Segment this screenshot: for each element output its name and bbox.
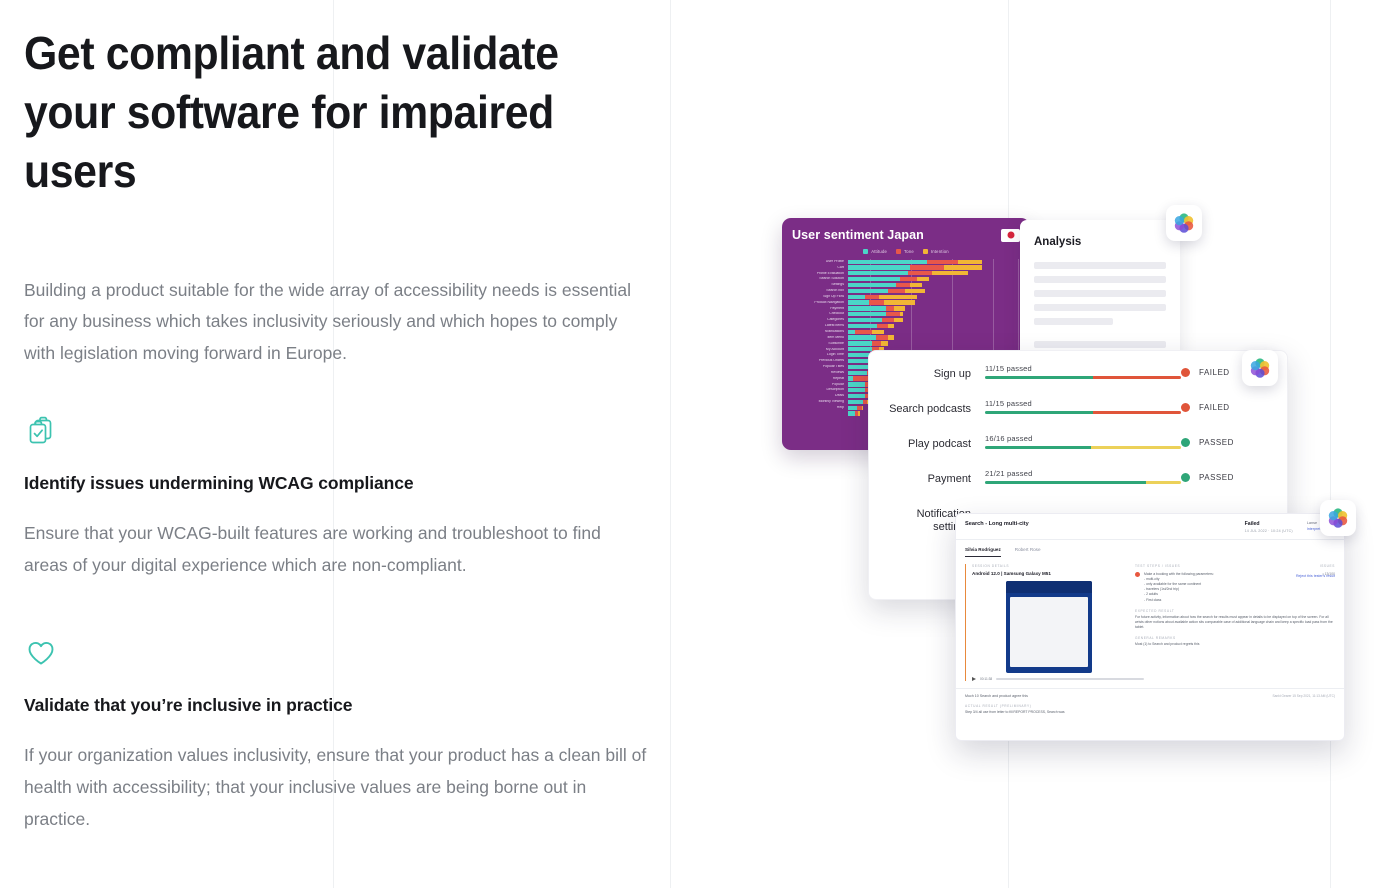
- content-column: Get compliant and validate your software…: [24, 24, 664, 835]
- test-progress: 16/16 passed: [985, 433, 1181, 449]
- feature-block-inclusive: Validate that you’re inclusive in practi…: [24, 636, 664, 836]
- chart-bar-segment: [848, 353, 870, 357]
- chart-bar-segment: [881, 341, 888, 345]
- status-dot: [1181, 438, 1190, 447]
- chart-bar-label: Sign Up Flow: [792, 295, 848, 299]
- chart-bar-row: Search Solution: [792, 277, 1020, 282]
- chart-bar-segment: [908, 271, 932, 275]
- chart-bar-segment: [848, 347, 872, 351]
- general-body: Most (1) to Search and product regrets t…: [1135, 642, 1335, 647]
- chart-bar-segment: [894, 318, 903, 322]
- issue-line: - First class: [1144, 598, 1214, 603]
- legend-label: Tone: [904, 249, 914, 254]
- chart-bar-segment: [869, 300, 884, 304]
- chart-bar-stack: [848, 283, 1020, 287]
- chart-bar-segment: [848, 300, 869, 304]
- status-label: PASSED: [1199, 438, 1234, 447]
- test-passed-count: 21/21 passed: [985, 469, 1181, 478]
- brand-logo-badge: [1320, 500, 1356, 536]
- chart-bar-segment: [872, 330, 884, 334]
- chart-bar-segment: [888, 289, 905, 293]
- test-name: Search podcasts: [877, 398, 985, 416]
- chart-legend: AttitudeToneIntention: [792, 249, 1020, 254]
- test-row[interactable]: Sign up11/15 passedFAILED: [869, 363, 1287, 398]
- chart-bar-label: Help: [792, 406, 848, 410]
- intro-paragraph: Building a product suitable for the wide…: [24, 275, 642, 371]
- page-title: Get compliant and validate your software…: [24, 24, 619, 201]
- test-row[interactable]: Search podcasts11/15 passedFAILED: [869, 398, 1287, 433]
- chart-bar-segment: [855, 330, 872, 334]
- video-time: 00:11:38: [980, 677, 992, 681]
- chart-bar-row: Checkout: [792, 312, 1020, 317]
- progress-pass-segment: [985, 376, 1093, 379]
- layout-guide-2: [670, 0, 671, 888]
- progress-pass-segment: [985, 481, 1146, 484]
- test-status: PASSED: [1181, 433, 1273, 447]
- session-issue-column: TEST STEPS / ISSUES ISSUES Make a bookin…: [1135, 564, 1335, 681]
- chart-bar-stack: [848, 289, 1020, 293]
- progress-remainder-segment: [1091, 446, 1181, 449]
- analysis-panel: Analysis: [1020, 220, 1180, 370]
- chart-bar-segment: [848, 394, 865, 398]
- chart-bar-label: My Account: [792, 348, 848, 352]
- chart-bar-row: Latest Items: [792, 323, 1020, 328]
- chart-bar-row: User Profile: [792, 259, 1020, 264]
- status-label: FAILED: [1199, 403, 1230, 412]
- chart-bar-segment: [848, 388, 865, 392]
- chart-bar-row: Categories: [792, 317, 1020, 322]
- feature-body: If your organization values inclusivity,…: [24, 740, 649, 836]
- chart-bar-stack: [848, 295, 1020, 299]
- chart-bar-segment: [932, 271, 968, 275]
- session-tabs: Silvia Rodriguez Robert Rose: [956, 540, 1344, 557]
- feature-body: Ensure that your WCAG-built features are…: [24, 518, 649, 582]
- heart-icon: [24, 636, 58, 670]
- issue-head-left: TEST STEPS / ISSUES: [1135, 564, 1180, 568]
- chart-bar-row: Product Navigation: [792, 300, 1020, 305]
- chart-bar-segment: [848, 335, 876, 339]
- chart-bar-segment: [848, 271, 908, 275]
- chart-bar-segment: [848, 306, 886, 310]
- chart-bar-segment: [888, 324, 895, 328]
- chart-bar-segment: [882, 318, 894, 322]
- session-timestamp: 14 JUL 2022 · 10:24 (UTC): [1245, 529, 1293, 533]
- test-progress-bar: [985, 376, 1181, 379]
- chart-bar-label: Description: [792, 388, 848, 392]
- test-passed-count: 16/16 passed: [985, 434, 1181, 443]
- test-name: Sign up: [877, 363, 985, 381]
- flower-logo-icon: [1172, 211, 1196, 235]
- general-head: GENERAL REMARKS: [1135, 636, 1335, 640]
- chart-bar-segment: [848, 359, 869, 363]
- test-rows-container: Sign up11/15 passedFAILEDSearch podcasts…: [869, 363, 1287, 538]
- progress-pass-segment: [985, 411, 1093, 414]
- chart-bar-row: Settings: [792, 282, 1020, 287]
- status-dot: [1181, 473, 1190, 482]
- chart-bar-segment: [848, 382, 865, 386]
- video-scrubber[interactable]: [996, 678, 1144, 679]
- legend-swatch: [923, 249, 928, 254]
- chart-bar-segment: [848, 365, 869, 369]
- status-label: PASSED: [1199, 473, 1234, 482]
- test-passed-count: 11/15 passed: [985, 399, 1181, 408]
- session-header: Search - Long multi-city Failed 14 JUL 2…: [956, 514, 1344, 540]
- issue-section-header: TEST STEPS / ISSUES ISSUES: [1135, 564, 1335, 568]
- chart-bar-row: Subscribe: [792, 341, 1020, 346]
- test-name: Payment: [877, 468, 985, 486]
- analysis-title: Analysis: [1034, 236, 1166, 248]
- chart-bar-segment: [944, 265, 982, 269]
- japan-flag-icon: [1001, 229, 1020, 242]
- error-icon: [1135, 572, 1140, 577]
- chart-bar-segment: [917, 277, 929, 281]
- device-name: Android 12.0 | Samsung Galaxy M51: [972, 571, 1125, 576]
- chart-bar-segment: [884, 300, 915, 304]
- issue-lines: Make a booking with the following parame…: [1144, 572, 1214, 603]
- test-progress-bar: [985, 411, 1181, 414]
- test-progress-bar: [985, 446, 1181, 449]
- chart-bar-segment: [900, 277, 917, 281]
- footer-right-text: Sankt Gearer 15 Sep 2021, 11:13 AM (UTC): [1273, 694, 1335, 698]
- test-status: [1181, 503, 1273, 508]
- session-footer: Much 10 Search and product agree this Sa…: [956, 688, 1344, 720]
- chart-bar-label: Deals: [792, 394, 848, 398]
- chart-bar-segment: [927, 260, 958, 264]
- chart-bar-segment: [865, 295, 879, 299]
- session-title: Search - Long multi-city: [965, 521, 1029, 527]
- video-controls[interactable]: 00:11:38: [972, 677, 1144, 681]
- legend-label: Intention: [931, 249, 949, 254]
- chart-bar-segment: [958, 260, 982, 264]
- test-passed-count: 11/15 passed: [985, 364, 1181, 373]
- chart-bar-segment: [848, 371, 867, 375]
- chart-bar-stack: [848, 277, 1020, 281]
- chart-bar-segment: [905, 289, 926, 293]
- chart-bar-segment: [848, 312, 886, 316]
- chart-bar-segment: [900, 312, 903, 316]
- chart-bar-segment: [910, 265, 944, 269]
- test-status: PASSED: [1181, 468, 1273, 482]
- expected-head: EXPECTED RESULT: [1135, 609, 1335, 613]
- chart-bar-segment: [853, 376, 868, 380]
- flower-logo-icon: [1248, 356, 1272, 380]
- actual-body: Step 3/4 all use from letter to fill REP…: [965, 710, 1335, 715]
- chart-bar-label: Search Solution: [792, 277, 848, 281]
- clipboard-check-icon: [24, 414, 58, 448]
- status-dot: [1181, 403, 1190, 412]
- progress-remainder-segment: [1093, 411, 1181, 414]
- reject-result-link[interactable]: Reject this tester's result: [1296, 574, 1335, 578]
- chart-bar-segment: [848, 283, 896, 287]
- status-dot: [1181, 368, 1190, 377]
- progress-pass-segment: [985, 446, 1091, 449]
- chart-bar-segment: [848, 277, 900, 281]
- chart-bar-segment: [848, 411, 855, 415]
- chart-bar-stack: [848, 265, 1020, 269]
- legend-item: Tone: [896, 249, 914, 254]
- device-kicker: SESSION DETAILS: [972, 564, 1125, 568]
- chart-bar-label: Monthly Viewing: [792, 400, 848, 404]
- chart-bar-segment: [848, 260, 927, 264]
- chart-bar-label: Cart: [792, 266, 848, 270]
- chart-bar-segment: [848, 330, 855, 334]
- test-progress: 11/15 passed: [985, 363, 1181, 379]
- session-status-block: Failed 14 JUL 2022 · 10:24 (UTC): [1245, 521, 1293, 533]
- chart-bar-row: Payment: [792, 306, 1020, 311]
- chart-bar-label: User Profile: [792, 260, 848, 264]
- legend-item: Intention: [923, 249, 949, 254]
- chart-bar-label: Subscribe: [792, 342, 848, 346]
- footer-left-text: Much 10 Search and product agree this: [965, 694, 1028, 698]
- chart-bar-segment: [872, 341, 881, 345]
- chart-bar-segment: [879, 295, 917, 299]
- chart-bar-stack: [848, 341, 1020, 345]
- chart-bar-segment: [896, 283, 910, 287]
- chart-bar-label: Settings: [792, 283, 848, 287]
- page-root: Get compliant and validate your software…: [0, 0, 1389, 888]
- chart-bar-segment: [848, 341, 872, 345]
- progress-remainder-segment: [1093, 376, 1181, 379]
- test-row[interactable]: Payment21/21 passedPASSED: [869, 468, 1287, 503]
- chart-bar-segment: [888, 335, 895, 339]
- flower-logo-icon: [1326, 506, 1350, 530]
- legend-swatch: [896, 249, 901, 254]
- chart-bar-row: Profile Evaluation: [792, 271, 1020, 276]
- chart-bar-row: Search box: [792, 288, 1020, 293]
- product-screenshot-collage: User sentiment Japan AttitudeToneIntenti…: [770, 190, 1389, 770]
- chart-bar-stack: [848, 271, 1020, 275]
- actual-head: ACTUAL RESULT (PRELIMINARY): [965, 704, 1335, 708]
- chart-bar-segment: [848, 406, 857, 410]
- chart-bar-segment: [848, 265, 910, 269]
- chart-bar-segment: [876, 335, 888, 339]
- chart-bar-segment: [848, 324, 877, 328]
- sentiment-card-header: User sentiment Japan: [792, 228, 1020, 242]
- chart-bar-row: Cart: [792, 265, 1020, 270]
- legend-label: Attitude: [871, 249, 887, 254]
- chart-bar-label: Search box: [792, 289, 848, 293]
- test-progress-bar: [985, 481, 1181, 484]
- test-progress: [985, 503, 1181, 504]
- chart-bar-row: Sign Up Flow: [792, 294, 1020, 299]
- play-icon[interactable]: [972, 677, 976, 681]
- chart-bar-stack: [848, 300, 1020, 304]
- chart-bar-row: Notifications: [792, 329, 1020, 334]
- chart-bar-segment: [848, 295, 865, 299]
- status-badge: Failed: [1245, 521, 1293, 527]
- feature-title: Identify issues undermining WCAG complia…: [24, 473, 664, 494]
- chart-bar-stack: [848, 306, 1020, 310]
- expected-body: For future activity, information about h…: [1135, 615, 1335, 631]
- test-row[interactable]: Play podcast16/16 passedPASSED: [869, 433, 1287, 468]
- chart-bar-segment: [848, 400, 863, 404]
- chart-bar-label: Previous Orders: [792, 359, 848, 363]
- chart-bar-label: Notifications: [792, 330, 848, 334]
- issue-head-right: ISSUES: [1320, 564, 1335, 568]
- chart-bar-label: Payment: [792, 307, 848, 311]
- session-device-column: SESSION DETAILS Android 12.0 | Samsung G…: [965, 564, 1125, 681]
- chart-bar-segment: [848, 318, 882, 322]
- chart-bar-label: Product Navigation: [792, 301, 848, 305]
- feature-title: Validate that you’re inclusive in practi…: [24, 695, 664, 716]
- chart-bar-stack: [848, 312, 1020, 316]
- chart-bar-label: Login Time: [792, 353, 848, 357]
- test-progress: 11/15 passed: [985, 398, 1181, 414]
- chart-bar-stack: [848, 260, 1020, 264]
- chart-bar-label: Popular: [792, 383, 848, 387]
- chart-bar-stack: [848, 318, 1020, 322]
- chart-bar-label: Profile Evaluation: [792, 272, 848, 276]
- chart-bar-segment: [848, 289, 888, 293]
- chart-bar-stack: [848, 335, 1020, 339]
- tab-robert-rose[interactable]: Robert Rose: [1015, 547, 1041, 557]
- test-name: Play podcast: [877, 433, 985, 451]
- chart-bar-segment: [862, 406, 864, 410]
- legend-swatch: [863, 249, 868, 254]
- session-body: SESSION DETAILS Android 12.0 | Samsung G…: [956, 557, 1344, 688]
- chart-bar-stack: [848, 324, 1020, 328]
- chart-bar-label: Reviews: [792, 371, 848, 375]
- chart-bar-segment: [877, 324, 887, 328]
- chart-bar-label: Latest Items: [792, 324, 848, 328]
- legend-item: Attitude: [863, 249, 887, 254]
- video-thumbnail[interactable]: [1006, 581, 1092, 673]
- chart-bar-label: Item Menu: [792, 336, 848, 340]
- brand-logo-badge: [1166, 205, 1202, 241]
- chart-bar-label: Repeat: [792, 377, 848, 381]
- sentiment-card-title: User sentiment Japan: [792, 228, 924, 242]
- progress-remainder-segment: [1146, 481, 1181, 484]
- chart-bar-label: Categories: [792, 318, 848, 322]
- status-label: FAILED: [1199, 368, 1230, 377]
- test-status: FAILED: [1181, 398, 1273, 412]
- chart-bar-label: Popular Titles: [792, 365, 848, 369]
- chart-bar-label: Checkout: [792, 312, 848, 316]
- chart-bar-segment: [858, 411, 860, 415]
- chart-bar-segment: [910, 283, 922, 287]
- chart-bar-segment: [894, 306, 904, 310]
- feature-block-compliance: Identify issues undermining WCAG complia…: [24, 414, 664, 582]
- chart-bar-segment: [886, 312, 900, 316]
- tab-silvia-rodriguez[interactable]: Silvia Rodriguez: [965, 547, 1001, 557]
- test-progress: 21/21 passed: [985, 468, 1181, 484]
- chart-bar-stack: [848, 330, 1020, 334]
- chart-bar-row: Item Menu: [792, 335, 1020, 340]
- brand-logo-badge: [1242, 350, 1278, 386]
- session-detail-card: Search - Long multi-city Failed 14 JUL 2…: [955, 513, 1345, 741]
- chart-bar-segment: [886, 306, 895, 310]
